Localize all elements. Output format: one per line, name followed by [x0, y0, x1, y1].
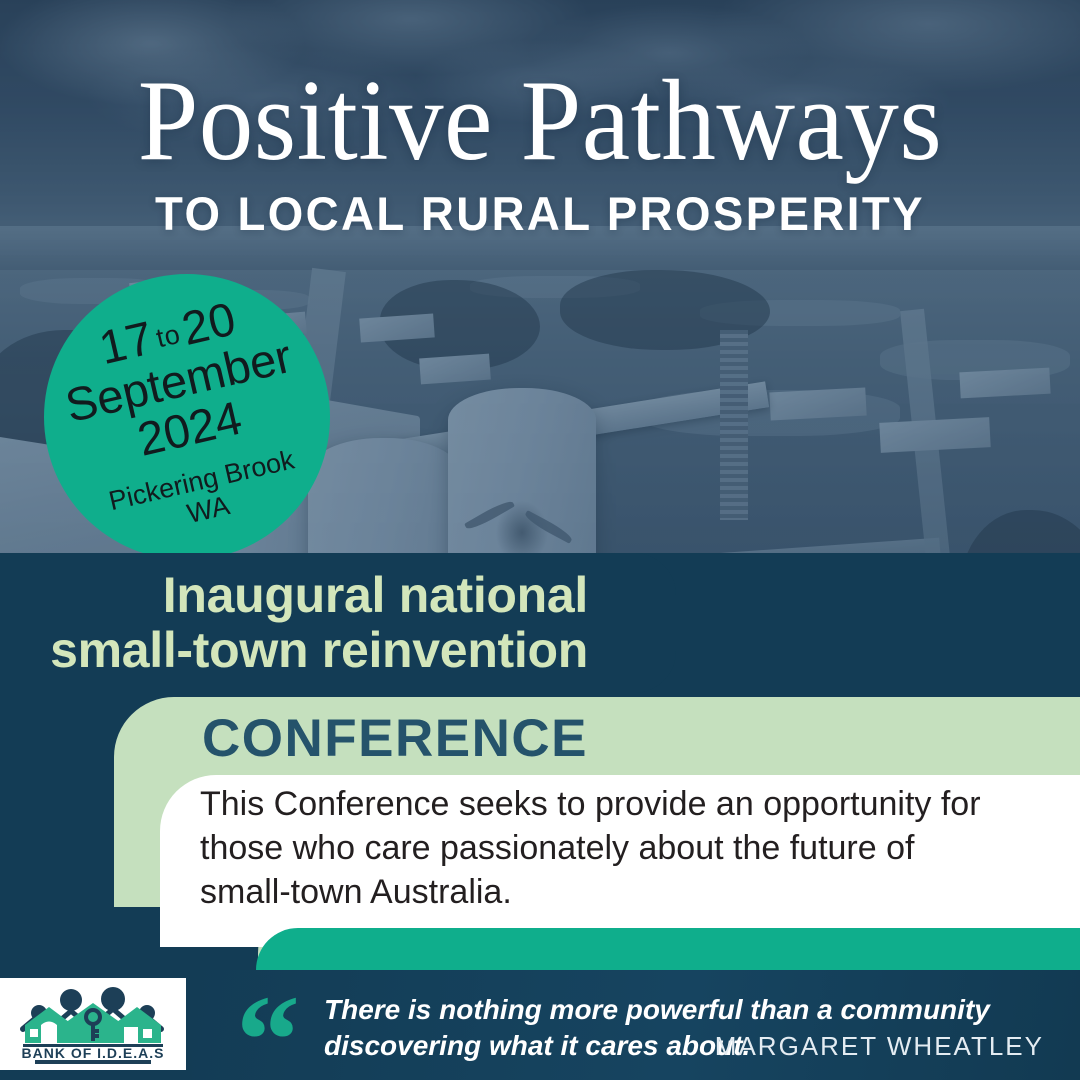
quote-attribution: MARGARET WHEATLEY: [715, 1031, 1044, 1062]
logo-wordmark: BANK OF I.D.E.A.S: [21, 1045, 164, 1061]
page-subtitle: TO LOCAL RURAL PROSPERITY: [16, 186, 1064, 241]
page-title: Positive Pathways: [32, 62, 1047, 180]
poster-root: Positive Pathways TO LOCAL RURAL PROSPER…: [0, 0, 1080, 1080]
conference-heading: CONFERENCE: [202, 708, 588, 769]
date-badge: 17to20 September 2024 Pickering Brook WA: [44, 274, 330, 560]
poster-title-block: Positive Pathways TO LOCAL RURAL PROSPER…: [0, 62, 1080, 241]
figure-head-icon: [60, 989, 82, 1011]
logo-panel: BANK OF I.D.E.A.S: [0, 976, 186, 1074]
conference-body-text: This Conference seeks to provide an oppo…: [200, 782, 1000, 915]
house-window-icon: [30, 1029, 38, 1037]
quotation-mark-icon: “: [236, 976, 300, 1080]
headline-banner: Inaugural national small-town reinventio…: [0, 553, 676, 693]
headline-line-2: small-town reinvention: [50, 623, 588, 678]
house-window-icon: [143, 1029, 152, 1038]
house-door-icon: [124, 1027, 138, 1043]
logo-strip-bottom: [0, 1070, 190, 1080]
logo-tagline-bar: [35, 1060, 151, 1064]
headline-line-1: Inaugural national: [50, 568, 588, 623]
bank-of-ideas-logo: BANK OF I.D.E.A.S: [13, 985, 173, 1065]
house-door-icon: [41, 1022, 57, 1044]
date-badge-content: 17to20 September 2024 Pickering Brook WA: [50, 284, 324, 551]
quote-bar: “ There is nothing more powerful than a …: [192, 970, 1080, 1080]
headline-text: Inaugural national small-town reinventio…: [50, 568, 588, 678]
logo-strip-top: [0, 968, 190, 978]
